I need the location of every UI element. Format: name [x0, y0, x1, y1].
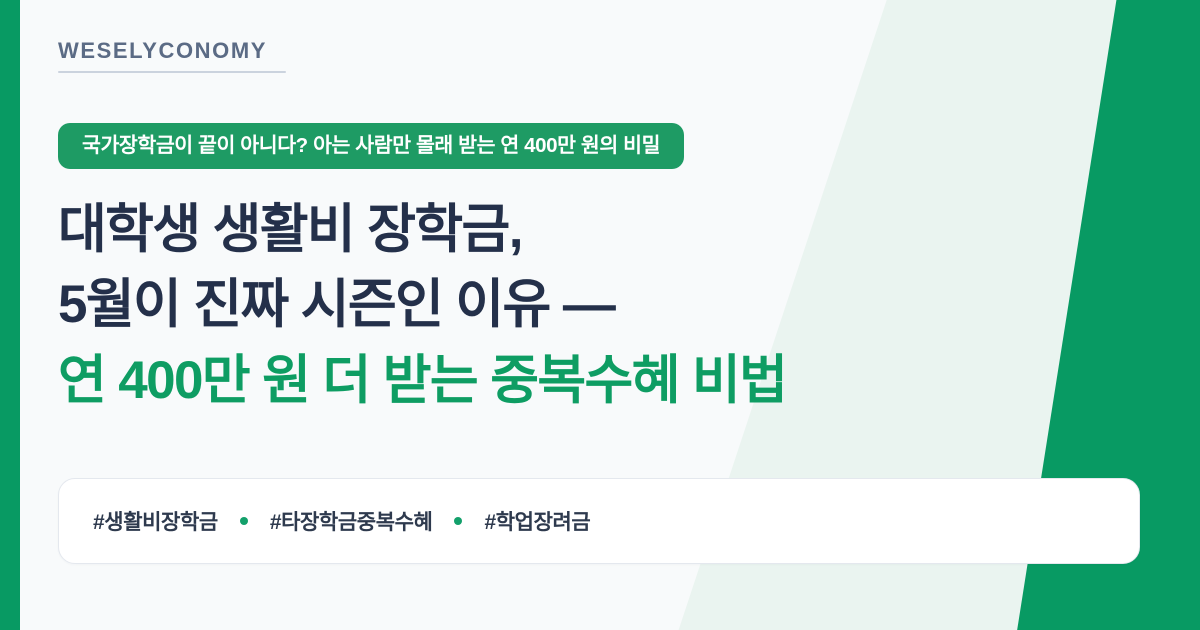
bullet-separator-icon	[454, 517, 462, 525]
headline-block: 대학생 생활비 장학금, 5월이 진짜 시즌인 이유 — 연 400만 원 더 …	[58, 192, 1068, 418]
social-card-canvas: WESELYCONOMY 국가장학금이 끝이 아니다? 아는 사람만 몰래 받는…	[0, 0, 1200, 630]
brand-logo: WESELYCONOMY	[58, 40, 286, 73]
hashtag-item-2[interactable]: #타장학금중복수혜	[270, 506, 433, 536]
eyebrow-badge: 국가장학금이 끝이 아니다? 아는 사람만 몰래 받는 연 400만 원의 비밀	[58, 123, 684, 169]
hashtag-card: #생활비장학금 #타장학금중복수혜 #학업장려금	[58, 478, 1140, 564]
brand-logo-text: WESELYCONOMY	[58, 40, 286, 62]
hashtag-row: #생활비장학금 #타장학금중복수혜 #학업장려금	[59, 506, 590, 536]
bullet-separator-icon	[240, 517, 248, 525]
eyebrow-badge-text: 국가장학금이 끝이 아니다? 아는 사람만 몰래 받는 연 400만 원의 비밀	[82, 136, 660, 157]
left-accent-stripe	[0, 0, 20, 630]
headline-line-1: 대학생 생활비 장학금,	[58, 192, 1068, 267]
hashtag-item-1[interactable]: #생활비장학금	[93, 506, 218, 536]
brand-logo-underline	[58, 71, 286, 73]
headline-line-2: 5월이 진짜 시즌인 이유 —	[58, 267, 1068, 342]
hashtag-item-3[interactable]: #학업장려금	[484, 506, 590, 536]
headline-line-3-accent: 연 400만 원 더 받는 중복수혜 비법	[58, 343, 1068, 418]
